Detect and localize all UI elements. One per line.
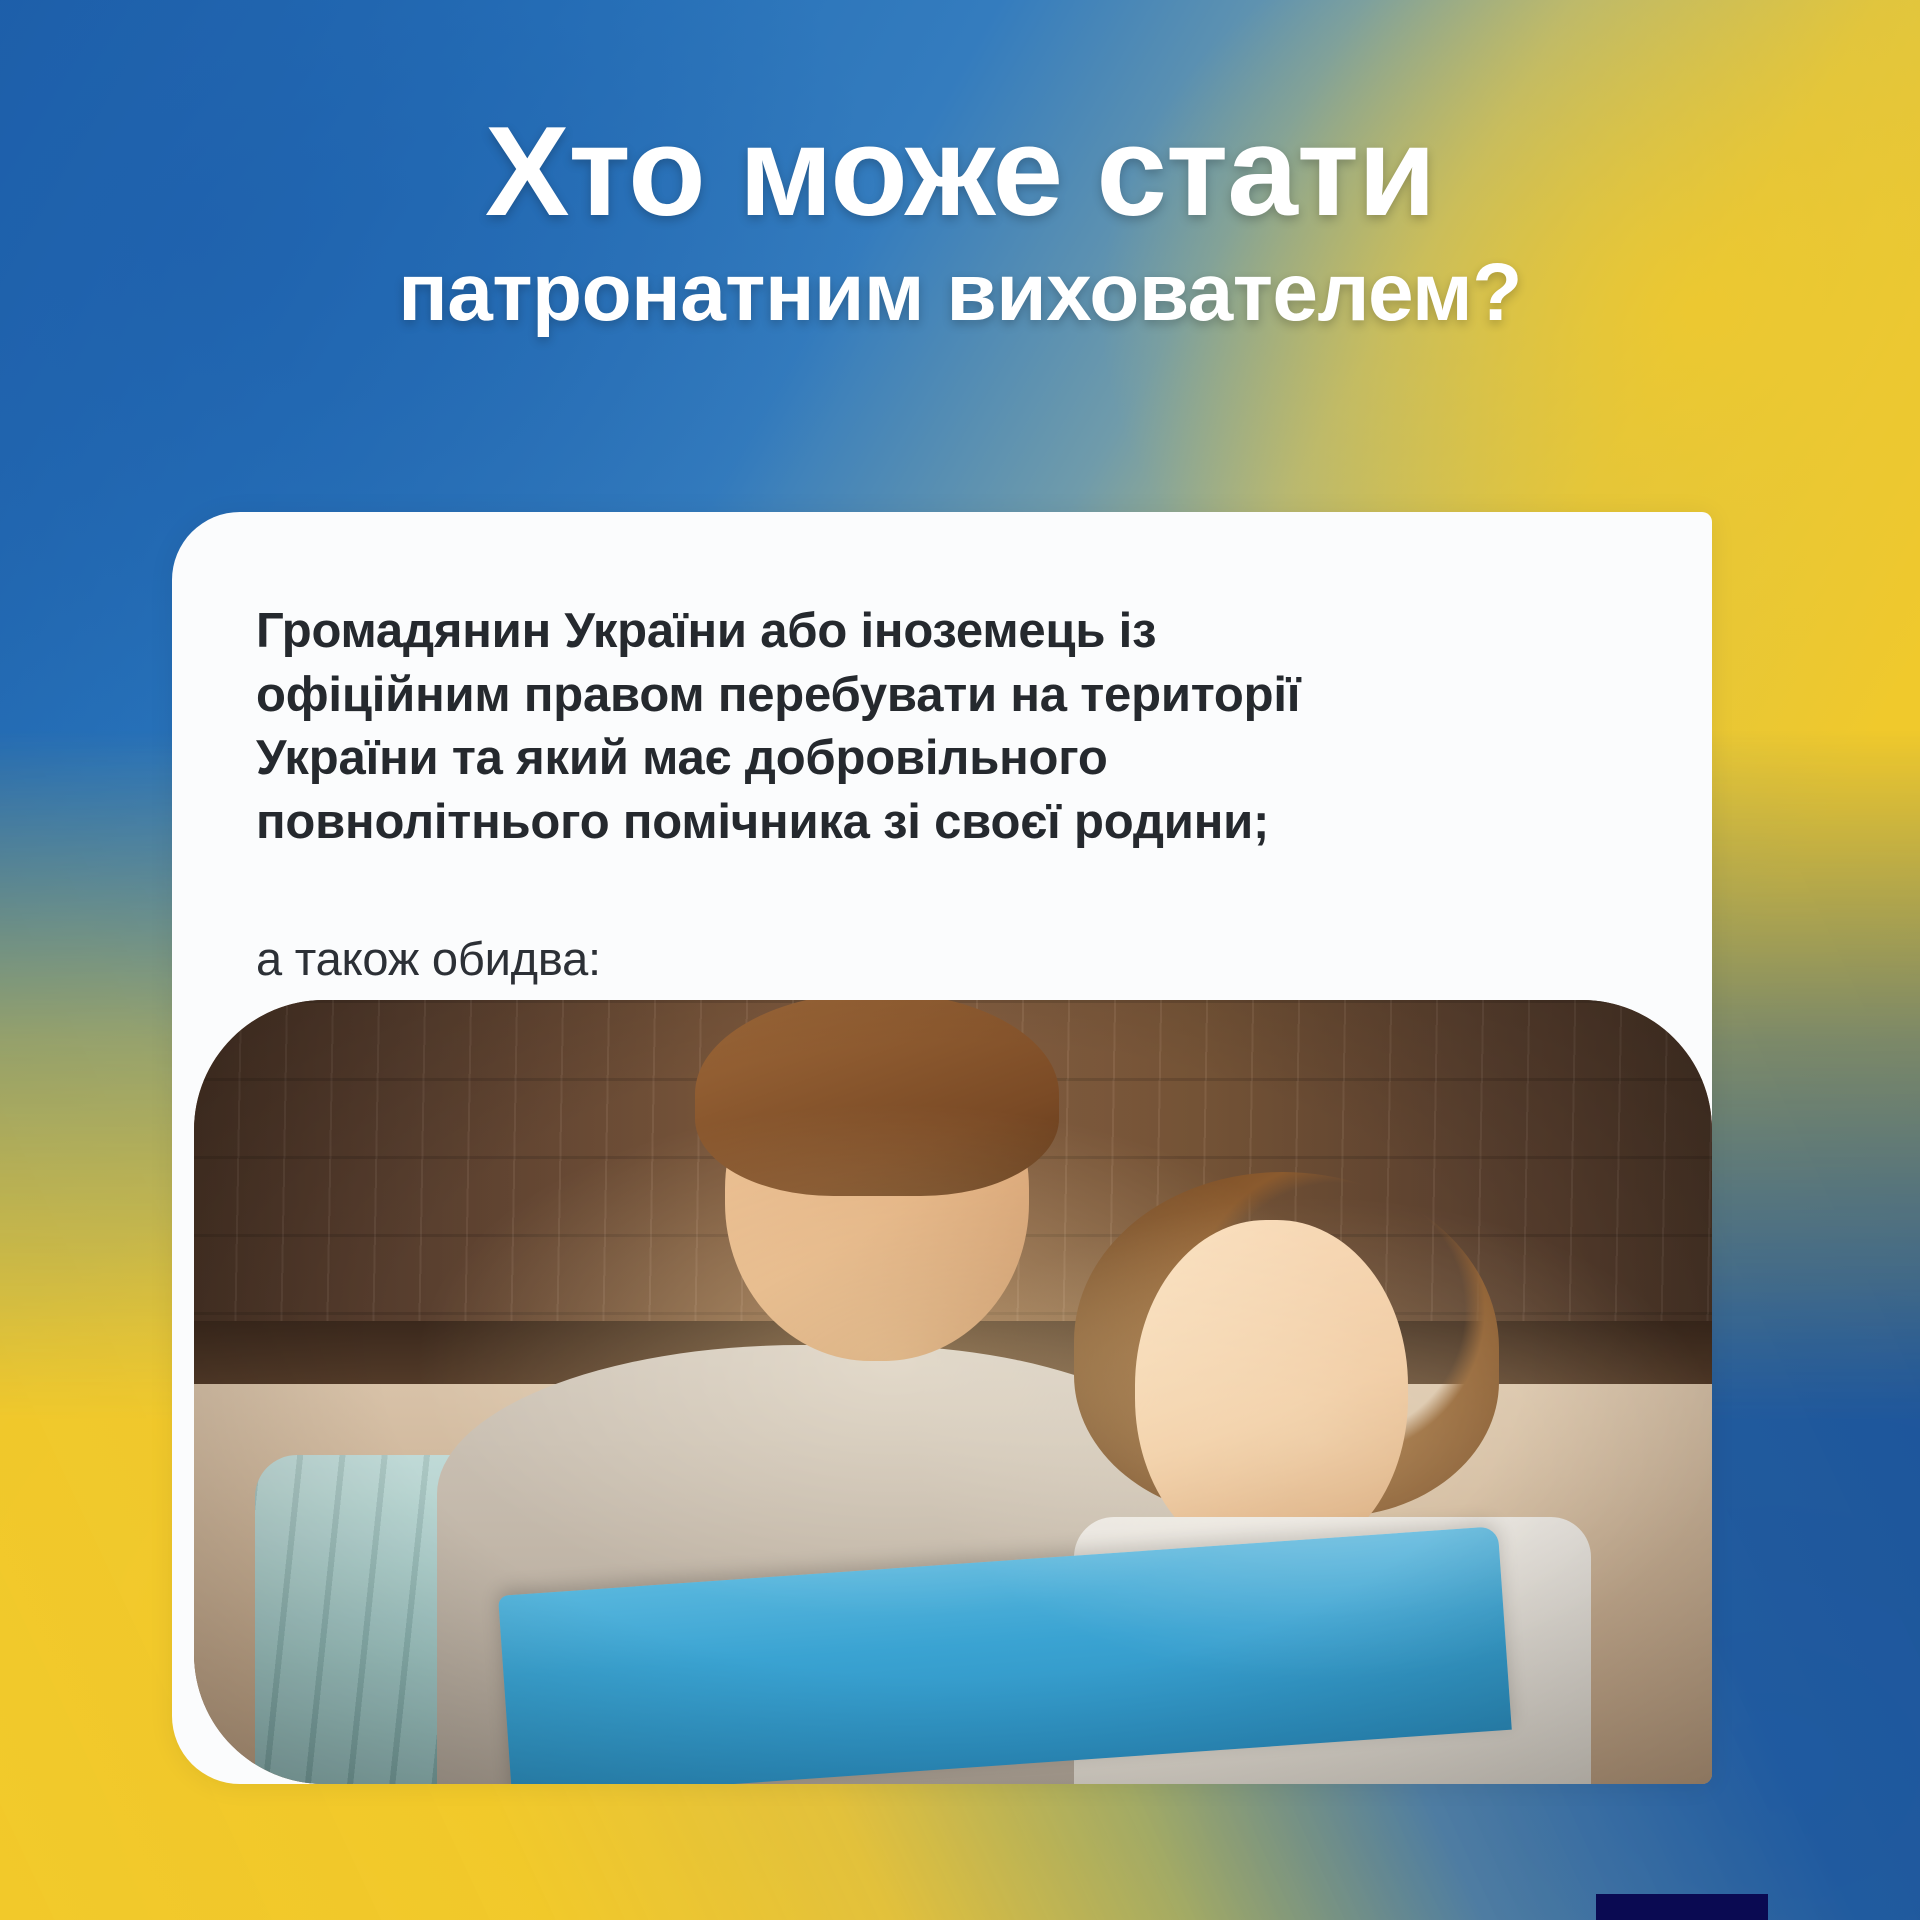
poster-root: Хто може стати патронатним вихователем? …: [0, 0, 1920, 1920]
light-line-1: а також обидва:: [256, 927, 1642, 992]
page-title: Хто може стати патронатним вихователем?: [0, 108, 1920, 339]
photo-vignette: [194, 1000, 1712, 1784]
title-line-2: патронатним вихователем?: [90, 247, 1830, 339]
bold-line-3: України та який має добровільного: [256, 727, 1642, 791]
family-reading-photo: [194, 1000, 1712, 1784]
content-card: Громадянин України або іноземець із офіц…: [172, 512, 1712, 1784]
bottom-navy-bar: [1596, 1894, 1768, 1920]
title-line-1: Хто може стати: [90, 108, 1830, 235]
bold-line-2: офіційним правом перебувати на території: [256, 664, 1642, 728]
bold-line-4: повнолітнього помічника зі своєї родини;: [256, 791, 1642, 855]
requirements-paragraph-bold: Громадянин України або іноземець із офіц…: [256, 600, 1642, 855]
bold-line-1: Громадянин України або іноземець із: [256, 600, 1642, 664]
